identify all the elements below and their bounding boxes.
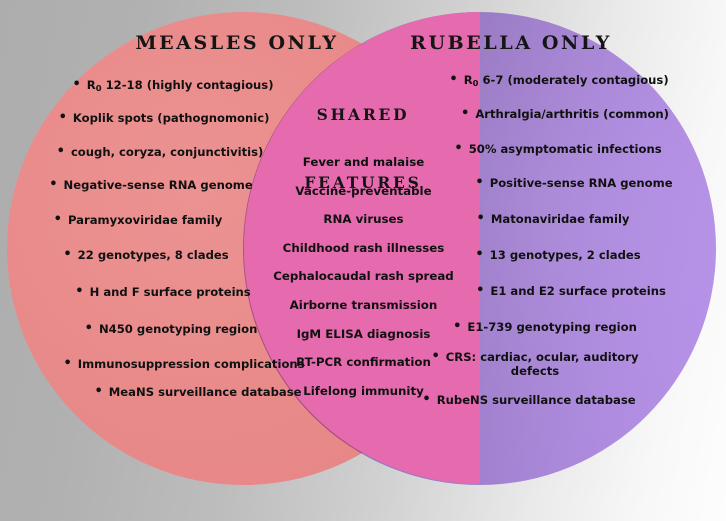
- bullet-dot-icon: •: [477, 211, 485, 226]
- rubella-item-label: Matonaviridae family: [491, 212, 630, 226]
- list-item: •Positive-sense RNA genome: [412, 176, 720, 191]
- bullet-dot-icon: •: [94, 384, 102, 399]
- bullet-dot-icon: •: [475, 247, 483, 262]
- measles-item-label: Negative-sense RNA genome: [64, 178, 253, 192]
- rubella-item-label: Arthralgia/arthritis (common): [475, 107, 669, 121]
- rubella-item-label: RubeNS surveillance database: [437, 393, 636, 407]
- basic-reproduction-number: R0: [464, 73, 479, 87]
- measles-item-label: Paramyxoviridae family: [68, 213, 222, 227]
- bullet-dot-icon: •: [49, 177, 57, 192]
- rubella-only-list: •R0 6-7 (moderately contagious)•Arthralg…: [412, 73, 720, 408]
- rubella-item-label: 13 genotypes, 2 clades: [490, 248, 641, 262]
- bullet-dot-icon: •: [431, 349, 439, 364]
- bullet-dot-icon: •: [422, 392, 430, 407]
- rubella-item-label: E1 and E2 surface proteins: [490, 284, 666, 298]
- bullet-dot-icon: •: [75, 284, 83, 299]
- rubella-item-label: 50% asymptomatic infections: [469, 142, 662, 156]
- list-item: •R0 12-18 (highly contagious): [10, 78, 310, 93]
- measles-item-label: N450 genotyping region: [99, 322, 257, 336]
- bullet-dot-icon: •: [454, 141, 462, 156]
- rubella-item-label: CRS: cardiac, ocular, auditory defects: [446, 350, 639, 379]
- bullet-dot-icon: •: [57, 144, 65, 159]
- bullet-dot-icon: •: [449, 72, 457, 87]
- list-item: •RubeNS surveillance database: [412, 393, 720, 408]
- measles-item-label: cough, coryza, conjunctivitis): [71, 145, 263, 159]
- list-item: •E1-739 genotyping region: [412, 320, 720, 335]
- list-item: •CRS: cardiac, ocular, auditory defects: [412, 350, 720, 380]
- list-item: •R0 6-7 (moderately contagious): [412, 73, 720, 88]
- bullet-dot-icon: •: [72, 77, 80, 92]
- bullet-dot-icon: •: [59, 110, 67, 125]
- bullet-dot-icon: •: [461, 106, 469, 121]
- bullet-dot-icon: •: [63, 356, 71, 371]
- bullet-dot-icon: •: [54, 212, 62, 227]
- measles-item-label: Koplik spots (pathognomonic): [73, 111, 270, 125]
- list-item: •Arthralgia/arthritis (common): [412, 107, 720, 122]
- list-item: •Koplik spots (pathognomonic): [10, 111, 310, 126]
- rubella-item-label: Positive-sense RNA genome: [490, 176, 673, 190]
- measles-item-label: R0 12-18 (highly contagious): [87, 78, 274, 92]
- bullet-dot-icon: •: [63, 247, 71, 262]
- list-item: •Matonaviridae family: [412, 212, 720, 227]
- measles-item-label: H and F surface proteins: [90, 285, 251, 299]
- list-item: •13 genotypes, 2 clades: [412, 248, 720, 263]
- list-item: •50% asymptomatic infections: [412, 142, 720, 157]
- measles-item-label: 22 genotypes, 8 clades: [78, 248, 229, 262]
- bullet-dot-icon: •: [475, 175, 483, 190]
- bullet-dot-icon: •: [85, 321, 93, 336]
- list-item: •E1 and E2 surface proteins: [412, 284, 720, 299]
- venn-diagram: MEASLES ONLY RUBELLA ONLY SHARED FEATURE…: [0, 0, 726, 521]
- bullet-dot-icon: •: [476, 283, 484, 298]
- rubella-item-label: R0 6-7 (moderately contagious): [464, 73, 669, 87]
- measles-heading: MEASLES ONLY: [92, 31, 382, 55]
- rubella-item-label: E1-739 genotyping region: [467, 320, 636, 334]
- shared-heading-line-1: SHARED: [317, 105, 410, 124]
- rubella-heading: RUBELLA ONLY: [366, 31, 656, 55]
- basic-reproduction-number: R0: [87, 78, 102, 92]
- bullet-dot-icon: •: [453, 319, 461, 334]
